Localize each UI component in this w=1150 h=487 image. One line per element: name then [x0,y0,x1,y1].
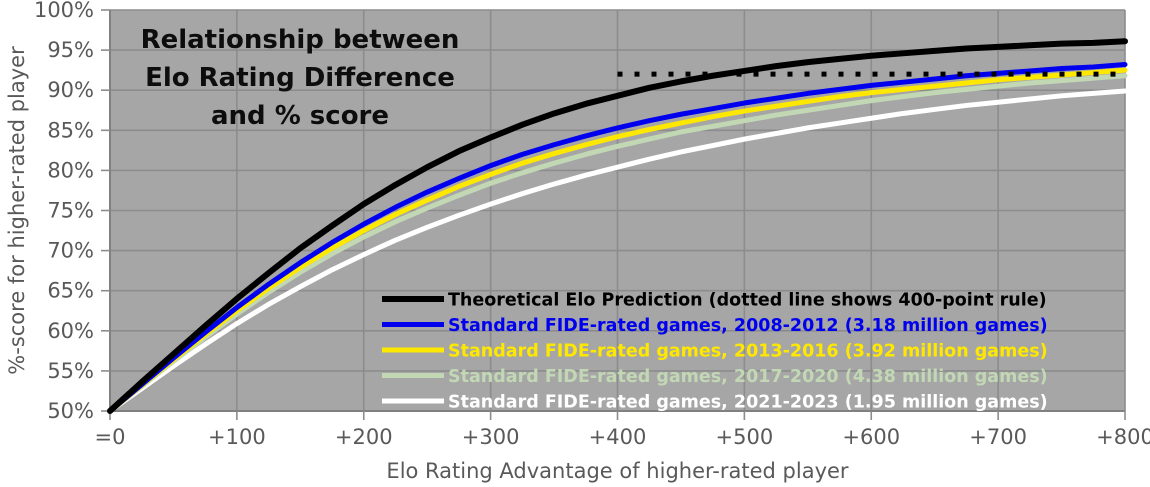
legend-item[interactable]: Standard FIDE-rated games, 2013-2016 (3.… [382,342,1048,362]
x-tick-label: +200 [335,425,393,449]
chart-title-line: Elo Rating Difference [145,63,455,93]
x-tick-labels: =0+100+200+300+400+500+600+700+800 [95,425,1150,449]
y-tick-label: 100% [34,0,94,22]
legend-item[interactable]: Standard FIDE-rated games, 2021-2023 (1.… [382,393,1048,413]
y-tick-label: 75% [47,199,94,223]
x-tick-label: +700 [969,425,1027,449]
y-tick-labels: 50%55%60%65%70%75%80%85%90%95%100% [34,0,94,423]
legend-label: Standard FIDE-rated games, 2008-2012 (3.… [448,316,1048,336]
y-tick-label: 80% [47,158,94,182]
elo-rating-chart: 50%55%60%65%70%75%80%85%90%95%100%=0+100… [0,0,1150,487]
y-tick-label: 85% [47,118,94,142]
y-tick-label: 60% [47,319,94,343]
chart-title-line: Relationship between [141,25,460,55]
x-tick-label: +400 [589,425,647,449]
legend-label: Standard FIDE-rated games, 2017-2020 (4.… [448,367,1048,387]
x-tick-label: +600 [842,425,900,449]
x-tick-label: =0 [95,425,126,449]
x-tick-label: +500 [716,425,774,449]
x-tick-label: +100 [208,425,266,449]
legend: Theoretical Elo Prediction (dotted line … [382,291,1048,413]
chart-title-line: and % score [211,101,389,131]
y-tick-label: 90% [47,78,94,102]
legend-label: Standard FIDE-rated games, 2021-2023 (1.… [448,393,1048,413]
legend-item[interactable]: Theoretical Elo Prediction (dotted line … [382,291,1047,311]
y-axis-title: %-score for higher-rated player [5,46,29,375]
x-tick-label: +300 [462,425,520,449]
legend-label: Theoretical Elo Prediction (dotted line … [448,291,1047,311]
x-tick-label: +800 [1096,425,1150,449]
y-tick-label: 95% [47,38,94,62]
chart-canvas: 50%55%60%65%70%75%80%85%90%95%100%=0+100… [0,0,1150,487]
y-tick-label: 55% [47,359,94,383]
y-tick-label: 50% [47,399,94,423]
x-axis-title: Elo Rating Advantage of higher-rated pla… [386,459,848,483]
legend-item[interactable]: Standard FIDE-rated games, 2008-2012 (3.… [382,316,1048,336]
y-tick-label: 65% [47,279,94,303]
y-tick-label: 70% [47,239,94,263]
legend-item[interactable]: Standard FIDE-rated games, 2017-2020 (4.… [382,367,1048,387]
legend-label: Standard FIDE-rated games, 2013-2016 (3.… [448,342,1048,362]
